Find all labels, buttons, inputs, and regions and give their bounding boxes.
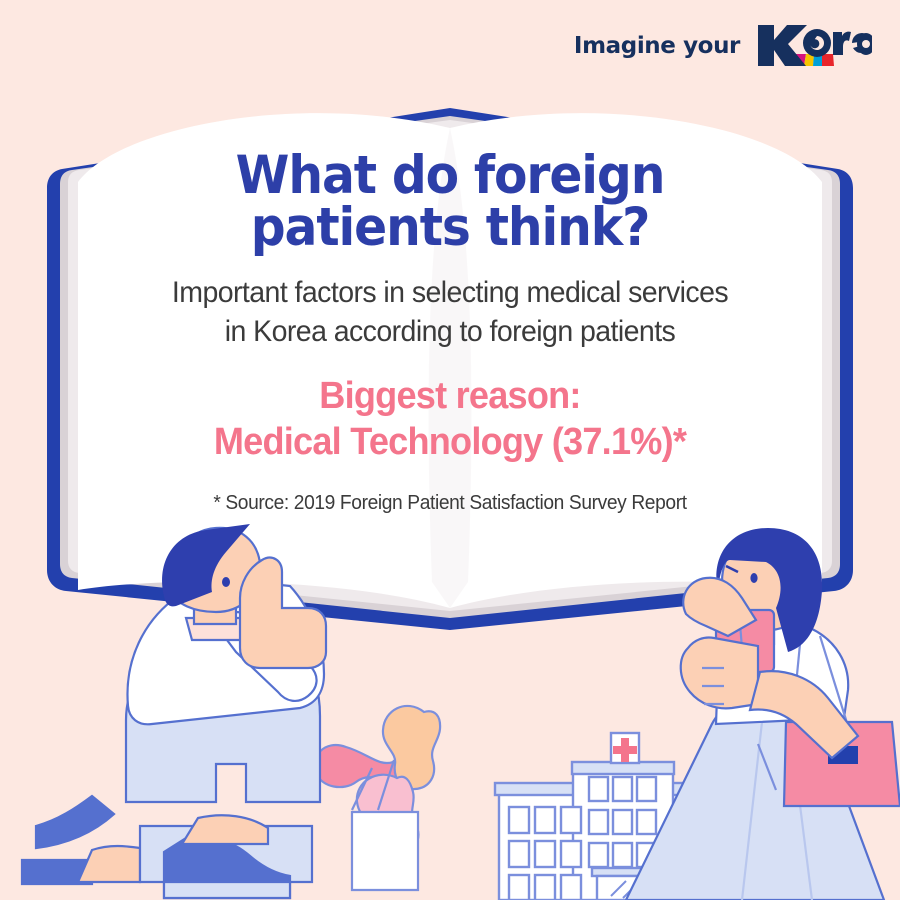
man-back-shoe xyxy=(36,796,114,848)
standing-woman-with-phone xyxy=(626,528,900,900)
brand-tagline: Imagine your xyxy=(574,33,740,59)
potted-plant xyxy=(315,706,441,890)
woman-hand-holding-phone xyxy=(681,637,758,708)
woman-eye xyxy=(750,573,757,583)
man-front-ankle xyxy=(182,815,268,844)
man-thumbs-up-hand xyxy=(240,558,326,668)
man-eye xyxy=(222,577,230,587)
man-front-shoe-sole xyxy=(164,882,290,898)
plant-pot xyxy=(352,812,418,890)
kneeling-man-thumbs-up xyxy=(22,524,326,898)
infographic-canvas: Imagine your xyxy=(0,0,900,900)
hospital-windows-center xyxy=(589,777,656,867)
illustration-layer xyxy=(0,0,900,900)
korea-logo xyxy=(754,22,872,70)
brand-lockup: Imagine your xyxy=(574,22,872,70)
man-back-ankle xyxy=(78,846,140,882)
hospital-windows-left xyxy=(509,807,581,900)
